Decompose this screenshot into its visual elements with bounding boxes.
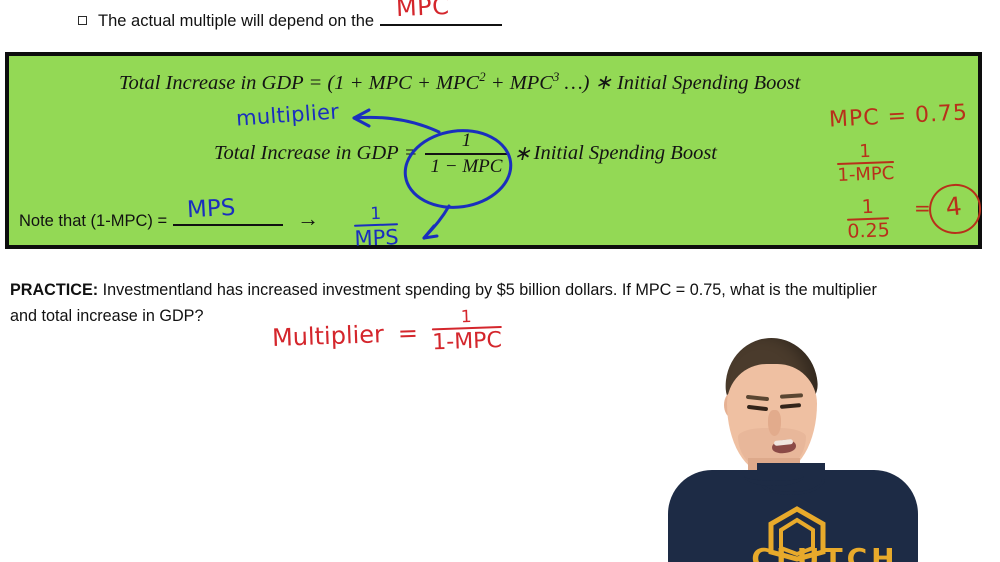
red-fraction-2: 1 0.25	[846, 197, 890, 242]
mps-fraction: 1 MPS	[353, 205, 399, 250]
presenter-video: CLUTCH	[620, 330, 1000, 562]
handwriting-fraction-one-over-one-minus-mpc: 1 1-MPC	[836, 140, 894, 185]
mps-fraction-denominator: MPS	[354, 228, 399, 251]
practice-ink-label: Multiplier	[272, 320, 385, 352]
red-fraction-1-denominator: 1-MPC	[837, 165, 894, 185]
handwriting-mps: MPS	[186, 195, 236, 223]
multiplier-fraction-denominator: 1 − MPC	[425, 157, 509, 177]
mpc-term-1: MPC	[369, 72, 412, 94]
equation-multiplier-equals: =	[404, 142, 418, 165]
blank-field-mps: MPS	[173, 209, 283, 226]
circled-answer: 4	[927, 181, 984, 236]
practice-ink-fraction: 1 1-MPC	[431, 308, 502, 355]
red-fraction-1: 1 1-MPC	[836, 142, 894, 185]
shirt-brand-text: CLUTCH	[750, 542, 900, 562]
equation-series-lhs: Total Increase in GDP	[119, 72, 303, 94]
red-fraction-1-numerator: 1	[859, 143, 871, 161]
blue-arrowhead-left	[354, 110, 369, 126]
slide-canvas: The actual multiple will depend on the M…	[0, 0, 1000, 562]
mpc-term-2: MPC	[436, 72, 479, 94]
fraction-bar	[425, 153, 509, 155]
equation-multiplier-rhs: Initial Spending Boost	[534, 142, 717, 165]
note-label: Note that (1-MPC) =	[19, 212, 167, 231]
bullet-text: The actual multiple will depend on the	[98, 12, 374, 31]
practice-ink-denominator: 1-MPC	[432, 330, 502, 354]
red-fraction-2-denominator: 0.25	[847, 222, 890, 242]
equation-series-expansion: (1 + MPC + MPC2 + MPC3 …)	[327, 72, 589, 94]
equation-series-operator: ∗	[595, 72, 612, 94]
multiplier-fraction-numerator: 1	[456, 131, 478, 151]
answer-value: 4	[944, 191, 963, 222]
equation-multiplier: Total Increase in GDP = 1 1 − MPC ∗ Init…	[214, 131, 717, 177]
handwriting-fraction-one-over-point-two-five: 1 0.25	[846, 195, 890, 242]
green-formula-box: Total Increase in GDP = (1 + MPC + MPC2 …	[5, 52, 982, 249]
practice-ink-numerator: 1	[461, 309, 472, 326]
bullet-line: The actual multiple will depend on the M…	[78, 9, 502, 31]
mps-fraction-numerator: 1	[370, 206, 381, 223]
mpc-exp-3: 3	[553, 70, 559, 84]
practice-ink-equals: =	[397, 319, 418, 348]
blue-arrowhead-down	[424, 226, 437, 238]
note-line: Note that (1-MPC) = MPS →	[19, 206, 319, 232]
equation-multiplier-operator: ∗	[513, 141, 530, 166]
mpc-term-3: MPC	[510, 72, 553, 94]
blue-arrow-to-multiplier	[354, 117, 439, 132]
practice-label: PRACTICE	[10, 281, 93, 299]
handwriting-multiplier-label: multiplier	[235, 99, 340, 130]
mpc-exp-2: 2	[479, 70, 485, 84]
blue-arrow-to-mps	[424, 206, 449, 238]
handwriting-one-over-mps: 1 MPS	[353, 199, 399, 250]
handwriting-practice-answer: Multiplier = 1 1-MPC	[271, 308, 502, 360]
practice-line-2: and total increase in GDP?	[10, 307, 203, 325]
red-fraction-2-numerator: 1	[861, 198, 874, 217]
equation-multiplier-lhs: Total Increase in GDP	[214, 142, 399, 165]
equation-series-rhs: Initial Spending Boost	[617, 72, 800, 94]
multiplier-fraction: 1 1 − MPC	[425, 131, 509, 177]
presenter-nose	[768, 410, 781, 436]
practice-line-1: Investmentland has increased investment …	[98, 281, 877, 299]
handwriting-mpc: MPC	[396, 0, 451, 22]
equation-series-equals: =	[308, 72, 322, 94]
blank-field-mpc: MPC	[380, 9, 502, 26]
right-arrow-icon: →	[297, 206, 319, 232]
checkbox-empty-icon	[78, 16, 87, 25]
presenter-collar	[744, 466, 804, 486]
handwriting-mpc-value: MPC = 0.75	[828, 100, 968, 132]
equation-series: Total Increase in GDP = (1 + MPC + MPC2 …	[119, 70, 800, 95]
